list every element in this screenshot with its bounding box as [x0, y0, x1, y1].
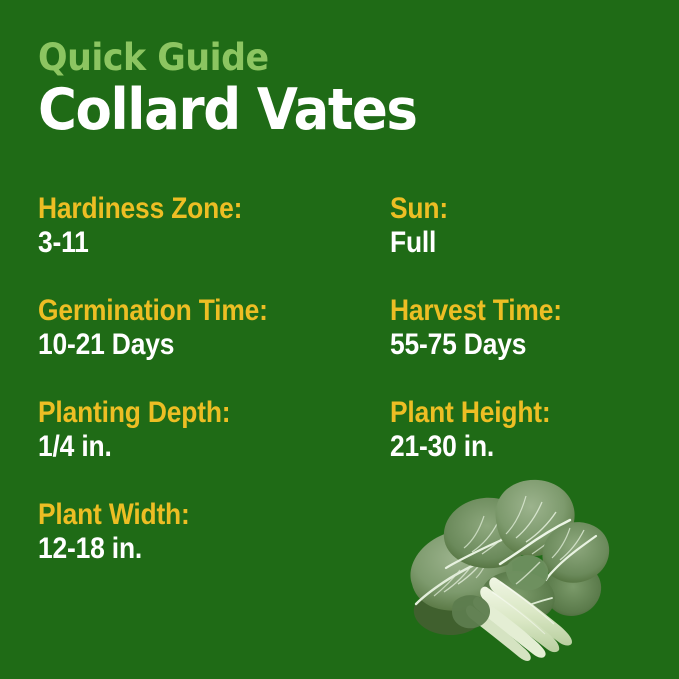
spec-label: Sun: [390, 192, 448, 226]
eyebrow-label: Quick Guide [38, 38, 602, 77]
spec-value: 12-18 in. [38, 532, 190, 566]
collard-greens-image [404, 472, 614, 668]
spec-value: 1/4 in. [38, 430, 230, 464]
spec-row: Germination Time: 10-21 Days Harvest Tim… [38, 294, 648, 396]
header: Quick Guide Collard Vates [38, 38, 638, 140]
spec-item-planting-depth: Planting Depth: 1/4 in. [38, 396, 257, 464]
spec-label: Planting Depth: [38, 396, 230, 430]
spec-label: Plant Width: [38, 498, 190, 532]
spec-value: 21-30 in. [390, 430, 551, 464]
spec-value: Full [390, 226, 448, 260]
spec-item-hardiness-zone: Hardiness Zone: 3-11 [38, 192, 270, 260]
spec-item-harvest-time: Harvest Time: 55-75 Days [390, 294, 585, 362]
spec-label: Plant Height: [390, 396, 551, 430]
spec-label: Harvest Time: [390, 294, 562, 328]
spec-row: Hardiness Zone: 3-11 Sun: Full [38, 192, 648, 294]
spec-item-germination-time: Germination Time: 10-21 Days [38, 294, 299, 362]
spec-item-sun: Sun: Full [390, 192, 456, 260]
spec-item-plant-height: Plant Height: 21-30 in. [390, 396, 572, 464]
spec-value: 10-21 Days [38, 328, 268, 362]
spec-label: Hardiness Zone: [38, 192, 242, 226]
quick-guide-card: Quick Guide Collard Vates Hardiness Zone… [0, 0, 679, 679]
page-title: Collard Vates [38, 80, 596, 140]
spec-item-plant-width: Plant Width: 12-18 in. [38, 498, 210, 566]
spec-value: 55-75 Days [390, 328, 562, 362]
spec-label: Germination Time: [38, 294, 268, 328]
spec-value: 3-11 [38, 226, 242, 260]
